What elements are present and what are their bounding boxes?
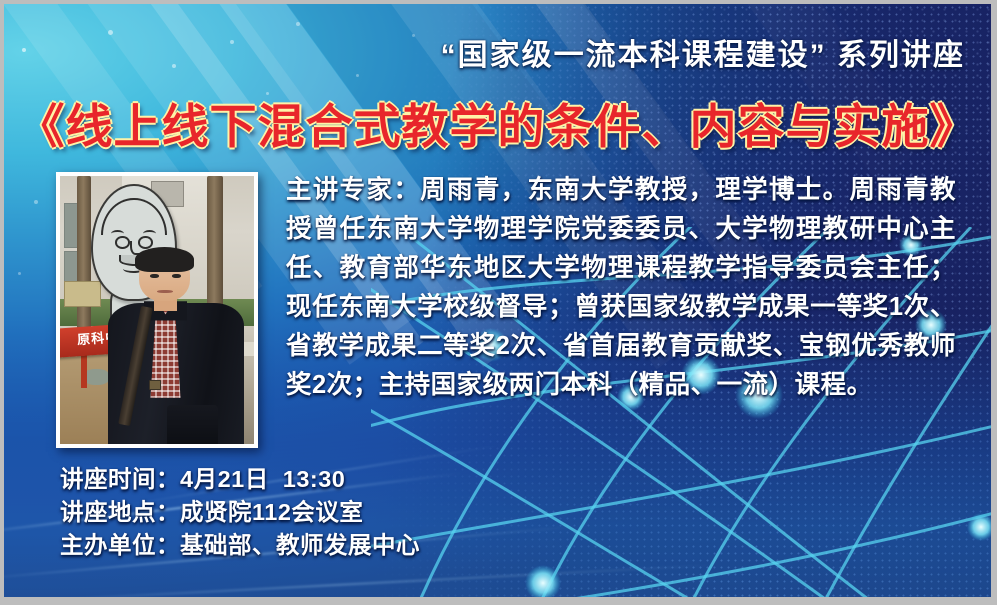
photo-notice-board (64, 281, 101, 307)
event-time: 讲座时间：4月21日 13:30 (60, 463, 420, 496)
photo-person (110, 251, 238, 444)
photo-sign-post (81, 353, 87, 388)
poster-canvas: “国家级一流本科课程建设” 系列讲座 《线上线下混合式教学的条件、内容与实施》 … (4, 4, 991, 597)
caricature-hair-icon (101, 198, 167, 235)
photo-tree-trunk (77, 176, 91, 337)
bio-line-detail: 周雨青教授曾任东南大学物理学院党委委员、大学物理教研中心主任、教育部华东地区大学… (286, 176, 956, 399)
event-info: 讲座时间：4月21日 13:30 讲座地点：成贤院112会议室 主办单位：基础部… (60, 463, 420, 562)
person-hair (135, 247, 194, 272)
series-subtitle: “国家级一流本科课程建设” 系列讲座 (4, 30, 965, 74)
event-organizer: 主办单位：基础部、教师发展中心 (60, 529, 420, 562)
person-strap-buckle (149, 380, 161, 390)
bio-line-intro: 主讲专家：周雨青，东南大学教授，理学博士。 (286, 176, 849, 204)
caricature-eye-icon (138, 236, 153, 248)
page-title: 《线上线下混合式教学的条件、内容与实施》 (4, 88, 991, 157)
caricature-eye-icon (115, 236, 130, 248)
event-place: 讲座地点：成贤院112会议室 (60, 496, 420, 529)
speaker-bio: 主讲专家：周雨青，东南大学教授，理学博士。周雨青教授曾任东南大学物理学院党委委员… (286, 171, 956, 405)
person-mouth (157, 290, 174, 293)
speaker-photo: 原科中心 (56, 172, 258, 448)
photo-rock (83, 369, 110, 385)
person-shoulder-bag (167, 405, 218, 444)
poster-frame: “国家级一流本科课程建设” 系列讲座 《线上线下混合式教学的条件、内容与实施》 … (0, 0, 997, 605)
